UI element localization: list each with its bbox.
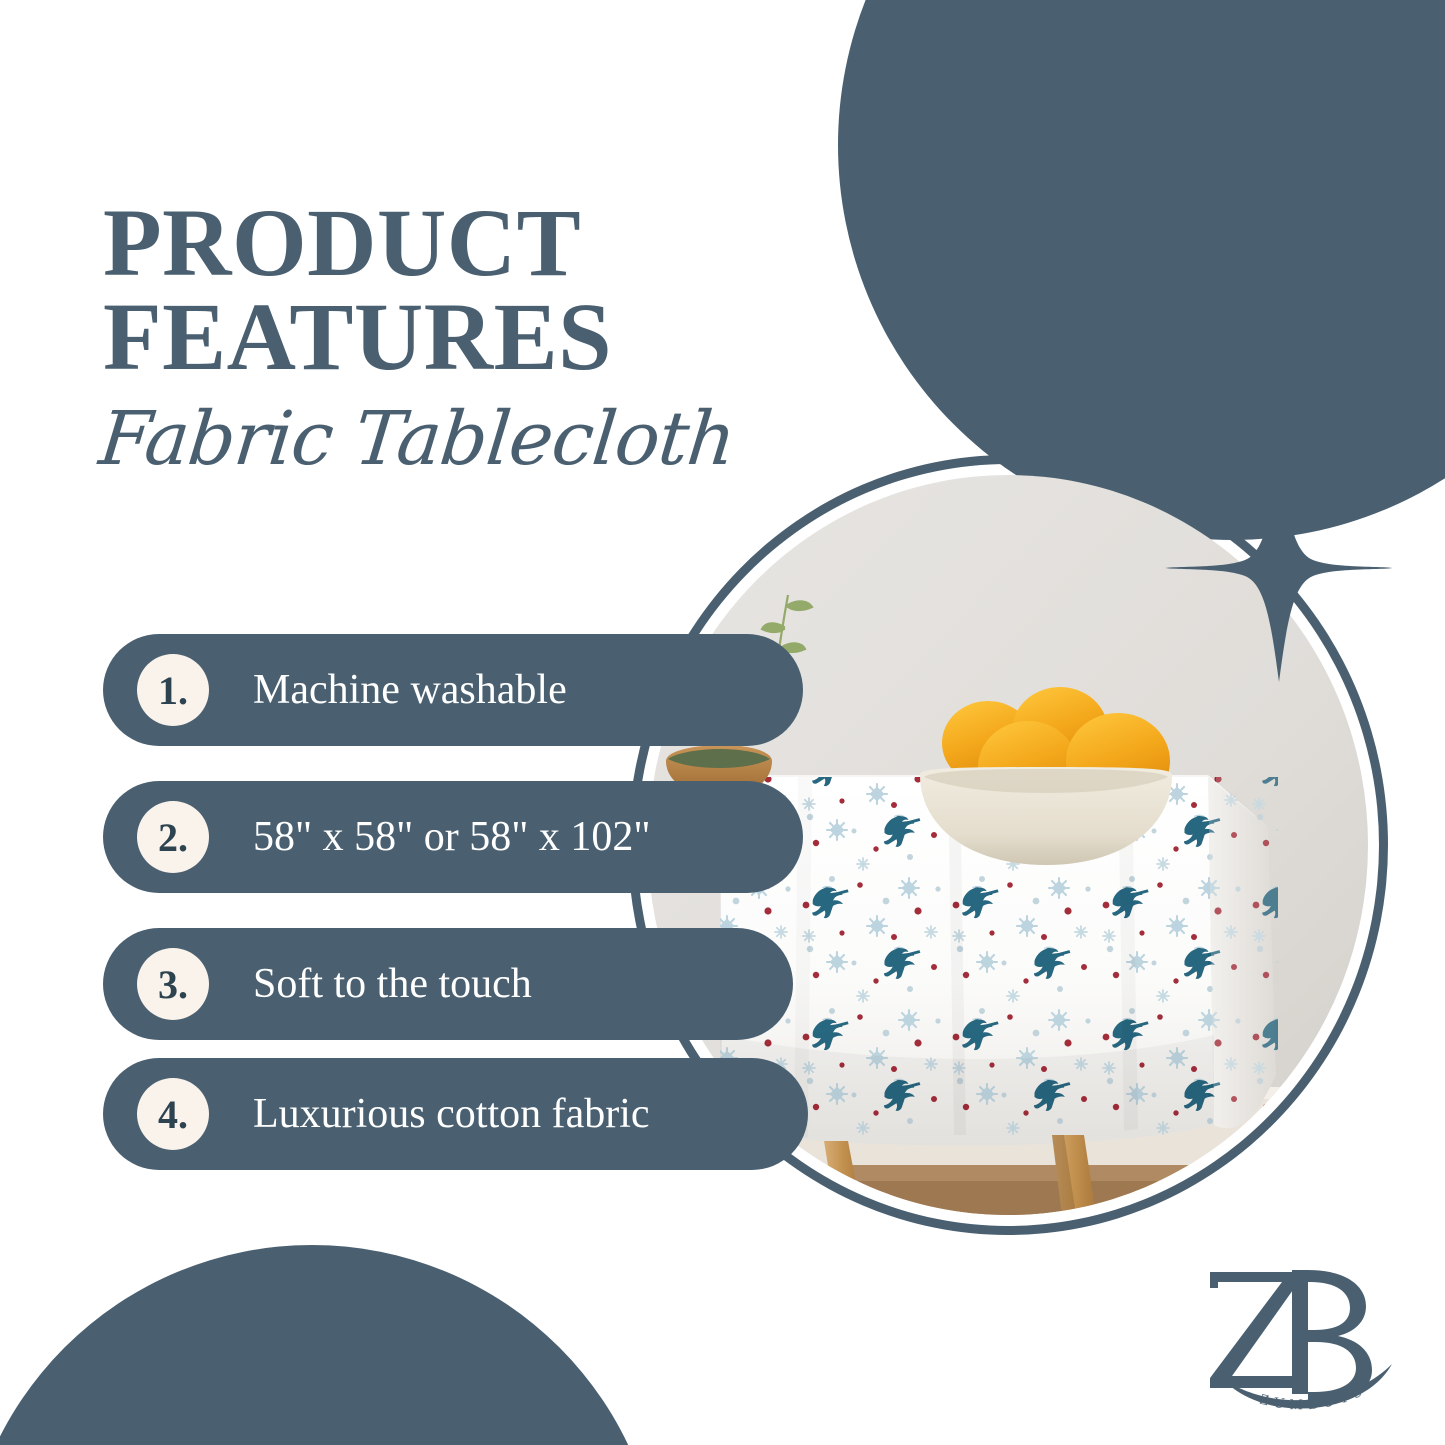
infographic-canvas: PRODUCT FEATURES Fabric Tablecloth	[0, 0, 1445, 1445]
four-point-sparkle-icon	[1163, 452, 1395, 684]
feature-label-4: Luxurious cotton fabric	[253, 1090, 650, 1138]
feature-item-2[interactable]: 2. 58" x 58" or 58" x 102"	[103, 781, 803, 893]
feature-number-4: 4.	[137, 1078, 209, 1150]
feature-label-3: Soft to the touch	[253, 960, 532, 1008]
decor-blob-bottom-left	[0, 1245, 662, 1445]
feature-item-1[interactable]: 1. Machine washable	[103, 634, 803, 746]
page-subtitle: Fabric Tablecloth	[96, 402, 738, 476]
feature-item-3[interactable]: 3. Soft to the touch	[103, 928, 793, 1040]
page-title: PRODUCT FEATURES	[103, 196, 803, 384]
feature-number-1: 1.	[137, 654, 209, 726]
feature-number-3: 3.	[137, 948, 209, 1020]
title-line-2: FEATURES	[103, 290, 803, 384]
feature-label-1: Machine washable	[253, 666, 567, 714]
feature-item-4[interactable]: 4. Luxurious cotton fabric	[103, 1058, 808, 1170]
title-line-1: PRODUCT	[103, 196, 803, 290]
brand-logo[interactable]: ZUMBUYS	[1196, 1258, 1408, 1430]
feature-number-2: 2.	[137, 801, 209, 873]
feature-label-2: 58" x 58" or 58" x 102"	[253, 813, 651, 861]
